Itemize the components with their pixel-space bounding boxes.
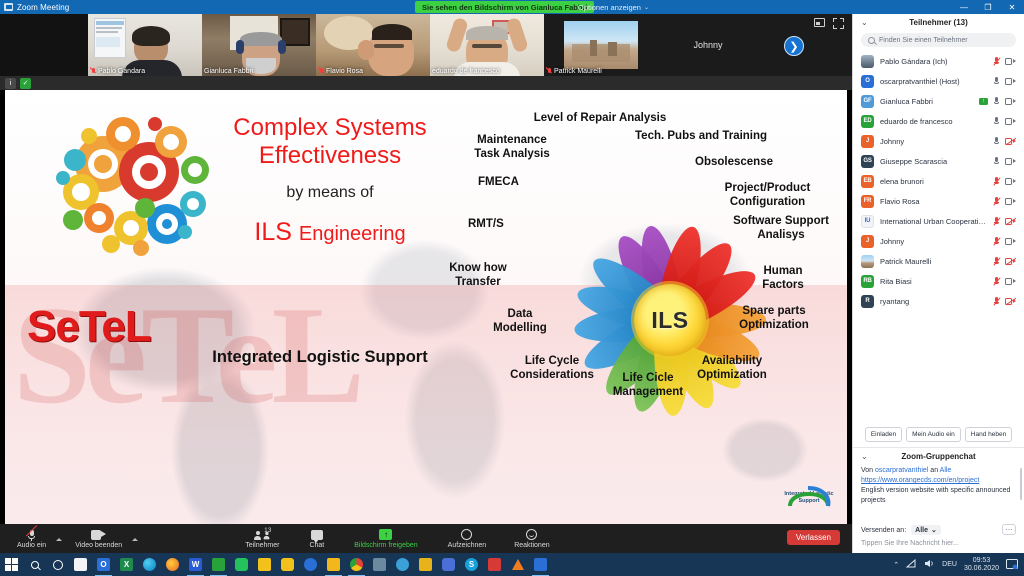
search-participant-input[interactable]: Finden Sie einen Teilnehmer (861, 33, 1016, 47)
notes-icon[interactable] (253, 553, 276, 576)
chat-header: ⌄ Zoom-Gruppenchat (853, 448, 1024, 464)
label-tech-pubs-and-training: Tech. Pubs and Training (635, 130, 795, 144)
participant-name: ryantang (880, 297, 987, 306)
vlc-icon[interactable] (506, 553, 529, 576)
skype-icon[interactable]: S (460, 553, 483, 576)
participants-panel-title: Teilnehmer (13) (909, 18, 968, 27)
camera-icon[interactable] (1005, 118, 1016, 125)
video-thumbnail[interactable]: Johnny (658, 14, 758, 76)
windows-start-icon[interactable] (0, 553, 23, 576)
thumbnail-name: Flavio Rosa (318, 67, 363, 75)
participants-list[interactable]: Pablo Gándara (Ich) O oscarpratvanthiel … (853, 51, 1024, 421)
thumbnail-name: Johnny (693, 40, 722, 50)
thumbnail-name: Patrick Maurelli (546, 67, 602, 75)
clock-date: 30.06.2020 (964, 565, 999, 573)
participant-name: elena brunori (880, 177, 987, 186)
excel-icon[interactable]: X (115, 553, 138, 576)
camera-icon (91, 530, 106, 540)
video-thumbnail[interactable]: Flavio Rosa (316, 14, 430, 76)
slide-ils-heading: ILS Engineering (195, 218, 465, 247)
participants-icon: 13 (254, 529, 270, 540)
avatar: IU (861, 215, 874, 228)
maximize-button[interactable]: ❐ (976, 0, 1000, 14)
video-thumbnail[interactable]: Pablo Gándara (88, 14, 202, 76)
screen-share-banner: Sie sehen den Bildschirm von Gianluca Fa… (415, 1, 594, 13)
chat-collapse-chevron-icon[interactable]: ⌄ (861, 452, 868, 461)
participants-panel-header: ⌄ Teilnehmer (13) (853, 14, 1024, 31)
search-icon (868, 37, 875, 44)
mic-icon[interactable] (993, 117, 1000, 126)
avatar: GS (861, 155, 874, 168)
audio-button[interactable]: Audio ein (10, 524, 53, 553)
video-thumbnail-active-speaker[interactable]: eduardo de francesco (430, 14, 544, 76)
setel-logo: SeTeL (27, 302, 151, 352)
clock-time: 09:53 (964, 557, 999, 565)
mic-muted-icon (26, 529, 38, 541)
reactions-icon (526, 529, 537, 540)
microsoft-store-icon[interactable] (69, 553, 92, 576)
camera-icon[interactable] (1005, 238, 1016, 245)
slide-title: Complex Systems Effectiveness (205, 114, 455, 171)
outlook-icon[interactable]: O (92, 553, 115, 576)
cortana-icon[interactable] (46, 553, 69, 576)
earth-icon[interactable] (391, 553, 414, 576)
participant-row[interactable]: J Johnny (853, 131, 1024, 151)
reactions-button[interactable]: Reaktionen (507, 524, 556, 553)
chat-icon (311, 530, 323, 540)
camera-off-icon[interactable] (1005, 258, 1016, 265)
mic-muted-icon[interactable] (993, 177, 1000, 186)
presentation-slide: SeTeL (5, 90, 847, 524)
chat-sender-name: oscarpratvanthiel (875, 467, 928, 474)
avatar: RB (861, 275, 874, 288)
camera-icon[interactable] (1005, 178, 1016, 185)
clock[interactable]: 09:53 30.06.2020 (964, 557, 999, 572)
window-titlebar: Zoom Meeting Sie sehen den Bildschirm vo… (0, 0, 1024, 14)
window-title: Zoom Meeting (17, 3, 69, 12)
zoom-meeting-toolbar: Audio ein Video beenden 13 Teilnehmer Ch… (0, 524, 852, 553)
volume-icon[interactable] (924, 559, 935, 570)
record-icon (461, 529, 472, 540)
mic-muted-icon[interactable] (993, 217, 1000, 226)
sharing-indicator-icon (979, 98, 988, 105)
reactions-label: Reaktionen (514, 542, 549, 549)
chat-yellow-icon[interactable] (276, 553, 299, 576)
participant-row[interactable]: GS Giuseppe Scarascia (853, 151, 1024, 171)
thumbnail-name: eduardo de francesco (432, 68, 500, 75)
chat-message-link[interactable]: https://www.orangecds.com/en/project (861, 476, 1016, 486)
search-icon[interactable] (23, 553, 46, 576)
label-obsolescense: Obsolescense (695, 156, 815, 170)
label-know-how-transfer: Know how Transfer (433, 262, 523, 289)
group-chat-section: ⌄ Zoom-Gruppenchat Von oscarpratvanthiel… (853, 447, 1024, 553)
slide-title-line2: Effectiveness (205, 142, 455, 170)
audio-options-caret-icon[interactable] (56, 538, 62, 541)
participant-row[interactable]: Patrick Maurelli (853, 251, 1024, 271)
mic-icon[interactable] (993, 77, 1000, 86)
label-software-support-analisys: Software Support Analisys (721, 215, 841, 242)
paint-icon[interactable] (437, 553, 460, 576)
zoom-meeting-window: Zoom Meeting Sie sehen den Bildschirm vo… (0, 0, 1024, 576)
fullscreen-icon[interactable] (833, 18, 844, 29)
participants-actions: Einladen Mein Audio ein Hand heben (853, 421, 1024, 447)
system-tray: ⌃ DEU 09:53 30.06.2020 (893, 557, 1024, 572)
camera-icon[interactable] (1005, 198, 1016, 205)
avatar (861, 55, 874, 68)
participants-count: 13 (264, 527, 271, 534)
chat-message-sender: Von oscarpratvanthiel an Alle (861, 466, 1016, 476)
chat-send-to-row: Versenden an: Alle ⌄ ⋯ (853, 522, 1024, 537)
video-options-caret-icon[interactable] (132, 538, 138, 541)
folder-blue-icon[interactable] (414, 553, 437, 576)
video-button[interactable]: Video beenden (68, 524, 129, 553)
mic-muted-icon (546, 67, 552, 75)
avatar: FR (861, 195, 874, 208)
leave-meeting-button[interactable]: Verlassen (787, 530, 840, 545)
participant-name: International Urban Cooperation ... (880, 217, 987, 226)
avatar: J (861, 235, 874, 248)
camera-off-icon[interactable] (1005, 298, 1016, 305)
participant-name: Gianluca Fabbri (880, 97, 973, 106)
participant-name: Giuseppe Scarascia (880, 157, 987, 166)
mic-muted-icon[interactable] (993, 297, 1000, 306)
tray-chevron-icon[interactable]: ⌃ (893, 561, 899, 569)
avatar: J (861, 135, 874, 148)
label-life-cicle-management: Life Cicle Management (593, 372, 703, 399)
participants-label: Teilnehmer (245, 542, 279, 549)
thumbnail-name: Pablo Gándara (90, 67, 145, 75)
participant-name: Patrick Maurelli (880, 257, 987, 266)
eye-blue-icon[interactable] (299, 553, 322, 576)
unmute-me-button[interactable]: Mein Audio ein (906, 427, 961, 442)
integrated-logistic-support-badge: Integrated Logistic Support (780, 480, 838, 514)
ellipsis-icon[interactable]: ⋯ (1002, 524, 1016, 535)
shared-screen-area: i ✓ SeTeL (0, 76, 852, 524)
label-level-of-repair-analysis: Level of Repair Analysis (505, 112, 695, 126)
camera-icon[interactable] (1005, 278, 1016, 285)
mic-muted-icon[interactable] (993, 57, 1000, 66)
participant-row[interactable]: R ryantang (853, 291, 1024, 311)
chrome-icon[interactable] (345, 553, 368, 576)
share-screen-button[interactable]: Bildschirm freigeben (347, 524, 424, 553)
mic-muted-icon[interactable] (993, 277, 1000, 286)
mic-muted-icon[interactable] (993, 197, 1000, 206)
label-human-factors: Human Factors (743, 265, 823, 292)
participant-name: eduardo de francesco (880, 117, 987, 126)
explorer-icon[interactable] (322, 553, 345, 576)
avatar (861, 255, 874, 268)
avatar: GF (861, 95, 874, 108)
slide-subtitle: by means of (205, 184, 455, 202)
collapse-chevron-icon[interactable]: ⌄ (861, 18, 868, 27)
raise-hand-button[interactable]: Hand heben (965, 427, 1012, 442)
filmstrip-next-button[interactable]: ❯ (784, 36, 804, 56)
camera-off-icon[interactable] (1005, 138, 1016, 145)
slide-title-line1: Complex Systems (205, 114, 455, 142)
whatsapp-icon[interactable] (230, 553, 253, 576)
participant-video (202, 14, 316, 76)
info-icon[interactable]: i (5, 78, 16, 89)
mic-icon[interactable] (993, 97, 1000, 106)
send-to-value: Alle (915, 527, 928, 534)
participant-name: Johnny (880, 137, 987, 146)
chat-messages[interactable]: Von oscarpratvanthiel an Alle https://ww… (853, 464, 1024, 522)
send-to-label: Versenden an: (861, 527, 906, 534)
app-green-icon[interactable] (207, 553, 230, 576)
chat-message-text: English version website with specific an… (861, 487, 1010, 504)
audio-label: Audio ein (17, 542, 46, 549)
chevron-down-icon: ⌄ (931, 526, 937, 534)
filmstrip-controls: ❯ (758, 14, 852, 76)
participant-row[interactable]: GF Gianluca Fabbri (853, 91, 1024, 111)
camera-icon[interactable] (1005, 98, 1016, 105)
chat-title: Zoom-Gruppenchat (901, 452, 975, 461)
chat-button[interactable]: Chat (302, 524, 331, 553)
participant-row[interactable]: O oscarpratvanthiel (Host) (853, 71, 1024, 91)
windows-taskbar: O X W S ⌃ DEU 09: (0, 553, 1024, 576)
window-controls: — ❐ ✕ (952, 0, 1024, 14)
mic-icon[interactable] (993, 137, 1000, 146)
photos-icon[interactable] (368, 553, 391, 576)
notification-icon[interactable] (1006, 559, 1018, 571)
mic-icon[interactable] (993, 157, 1000, 166)
camera-icon[interactable] (1005, 158, 1016, 165)
label-maintenance-task-analysis: Maintenance Task Analysis (457, 134, 567, 161)
mic-muted-icon (90, 67, 96, 75)
pdf-icon[interactable] (483, 553, 506, 576)
chat-scrollbar[interactable] (1020, 468, 1023, 500)
record-button[interactable]: Aufzeichnen (441, 524, 494, 553)
participant-name: Rita Biasi (880, 277, 987, 286)
chat-message-input[interactable]: Tippen Sie Ihre Nachricht hier... (853, 537, 1024, 553)
participant-name: oscarpratvanthiel (Host) (880, 77, 987, 86)
chevron-down-icon: ⌄ (644, 4, 649, 11)
share-screen-label: Bildschirm freigeben (354, 542, 417, 549)
participant-row[interactable]: FR Flavio Rosa (853, 191, 1024, 211)
ils-acronym: ILS (254, 218, 292, 246)
minimize-button[interactable]: — (952, 0, 976, 14)
label-data-modelling: Data Modelling (475, 308, 565, 335)
video-thumbnail[interactable]: Patrick Maurelli (544, 14, 658, 76)
slide-ils-expansion: Integrated Logistic Support (155, 348, 485, 367)
ils-engineering-word: Engineering (299, 223, 406, 245)
record-label: Aufzeichnen (448, 542, 487, 549)
participant-row[interactable]: IU International Urban Cooperation ... (853, 211, 1024, 231)
participant-row[interactable]: EB elena brunori (853, 171, 1024, 191)
avatar: R (861, 295, 874, 308)
mic-muted-icon[interactable] (993, 237, 1000, 246)
camera-off-icon[interactable] (1005, 218, 1016, 225)
participant-row[interactable]: Pablo Gándara (Ich) (853, 51, 1024, 71)
avatar: O (861, 75, 874, 88)
zoom-icon[interactable] (529, 553, 552, 576)
flower-core-ils: ILS (634, 284, 706, 356)
participant-name: Johnny (880, 237, 987, 246)
chat-label: Chat (309, 542, 324, 549)
chat-recipient-name: Alle (940, 467, 952, 474)
search-placeholder: Finden Sie einen Teilnehmer (879, 37, 968, 44)
thumbnail-name: Gianluca Fabbri (204, 68, 253, 75)
avatar: EB (861, 175, 874, 188)
edge-icon[interactable] (138, 553, 161, 576)
camera-icon[interactable] (1005, 58, 1016, 65)
firefox-icon[interactable] (161, 553, 184, 576)
shared-screen-toolbar: i ✓ (0, 76, 852, 90)
show-options-button[interactable]: Optionen anzeigen ⌄ (578, 1, 649, 13)
video-label: Video beenden (75, 542, 122, 549)
badge-arrows-icon (784, 484, 834, 510)
label-rmts: RMT/S (468, 218, 548, 232)
send-to-dropdown[interactable]: Alle ⌄ (911, 525, 941, 535)
participant-video (430, 14, 544, 76)
participant-row[interactable]: ED eduardo de francesco (853, 111, 1024, 131)
camera-icon[interactable] (1005, 78, 1016, 85)
share-screen-icon (379, 529, 392, 540)
show-options-label: Optionen anzeigen (578, 3, 641, 12)
mic-muted-icon (318, 67, 324, 75)
close-button[interactable]: ✕ (1000, 0, 1024, 14)
participant-row[interactable]: J Johnny (853, 231, 1024, 251)
word-icon[interactable]: W (184, 553, 207, 576)
shield-icon[interactable]: ✓ (20, 78, 31, 89)
participants-button[interactable]: 13 Teilnehmer (238, 524, 286, 553)
mic-muted-icon[interactable] (993, 257, 1000, 266)
label-project-product-configuration: Project/Product Configuration (705, 182, 830, 209)
participant-row[interactable]: RB Rita Biasi (853, 271, 1024, 291)
language-indicator[interactable]: DEU (942, 561, 957, 568)
video-thumbnail[interactable]: Gianluca Fabbri (202, 14, 316, 76)
label-fmeca: FMECA (478, 176, 568, 190)
invite-button[interactable]: Einladen (865, 427, 902, 442)
participant-name: Pablo Gándara (Ich) (880, 57, 987, 66)
video-filmstrip: Pablo Gándara Gianluca Fabbri (0, 14, 852, 76)
network-icon[interactable] (906, 559, 917, 570)
label-spare-parts-optimization: Spare parts Optimization (719, 305, 829, 332)
participant-name: Flavio Rosa (880, 197, 987, 206)
zoom-app-icon (4, 3, 13, 11)
avatar: ED (861, 115, 874, 128)
participants-chat-panel: ⌄ Teilnehmer (13) Finden Sie einen Teiln… (852, 14, 1024, 553)
popout-icon[interactable] (814, 18, 825, 27)
